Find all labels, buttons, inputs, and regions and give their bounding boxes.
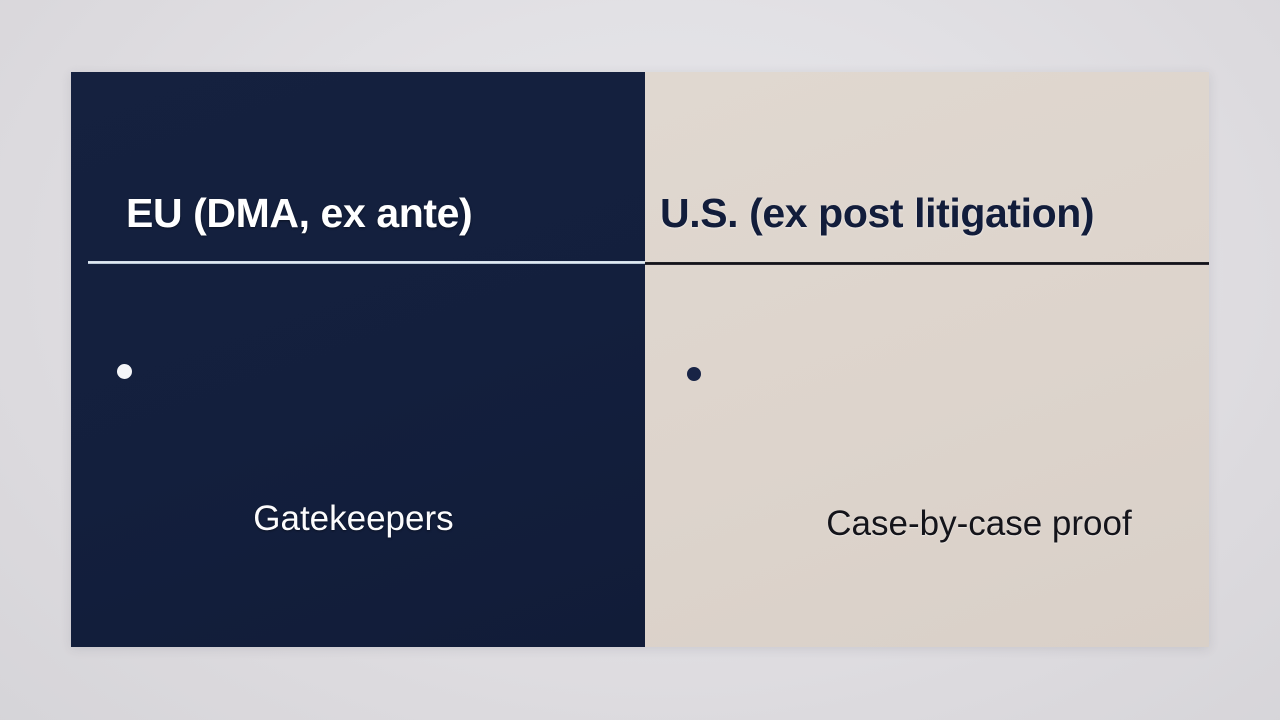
two-column-comparison-panel: EU (DMA, ex ante) Gatekeepers Interopera…	[71, 72, 1209, 647]
list-item: Gatekeepers	[71, 334, 645, 630]
list-item-label: Case-by-case proof	[826, 504, 1131, 543]
column-eu: EU (DMA, ex ante) Gatekeepers Interopera…	[71, 72, 645, 647]
column-us-header-zone: U.S. (ex post litigation)	[645, 72, 1209, 263]
bullet-dot-icon	[687, 367, 701, 381]
column-eu-title: EU (DMA, ex ante)	[126, 190, 472, 237]
list-item-label: Gatekeepers	[253, 499, 453, 538]
list-item: Case-by-case proof	[645, 336, 1209, 636]
column-eu-header-zone: EU (DMA, ex ante)	[71, 72, 645, 263]
list-item: Interoperability	[71, 630, 645, 647]
list-item: Slower timelines	[645, 636, 1209, 647]
column-us: U.S. (ex post litigation) Case-by-case p…	[645, 72, 1209, 647]
bullet-dot-icon	[117, 364, 132, 379]
column-us-bullet-list: Case-by-case proof Slower timelines Stru…	[645, 336, 1209, 647]
column-eu-header-divider	[88, 261, 645, 264]
column-eu-bullet-list: Gatekeepers Interoperability Self-prefer…	[71, 334, 645, 647]
comparison-slide: EU (DMA, ex ante) Gatekeepers Interopera…	[0, 0, 1280, 720]
column-us-title: U.S. (ex post litigation)	[660, 190, 1094, 237]
column-us-header-divider	[645, 262, 1209, 265]
